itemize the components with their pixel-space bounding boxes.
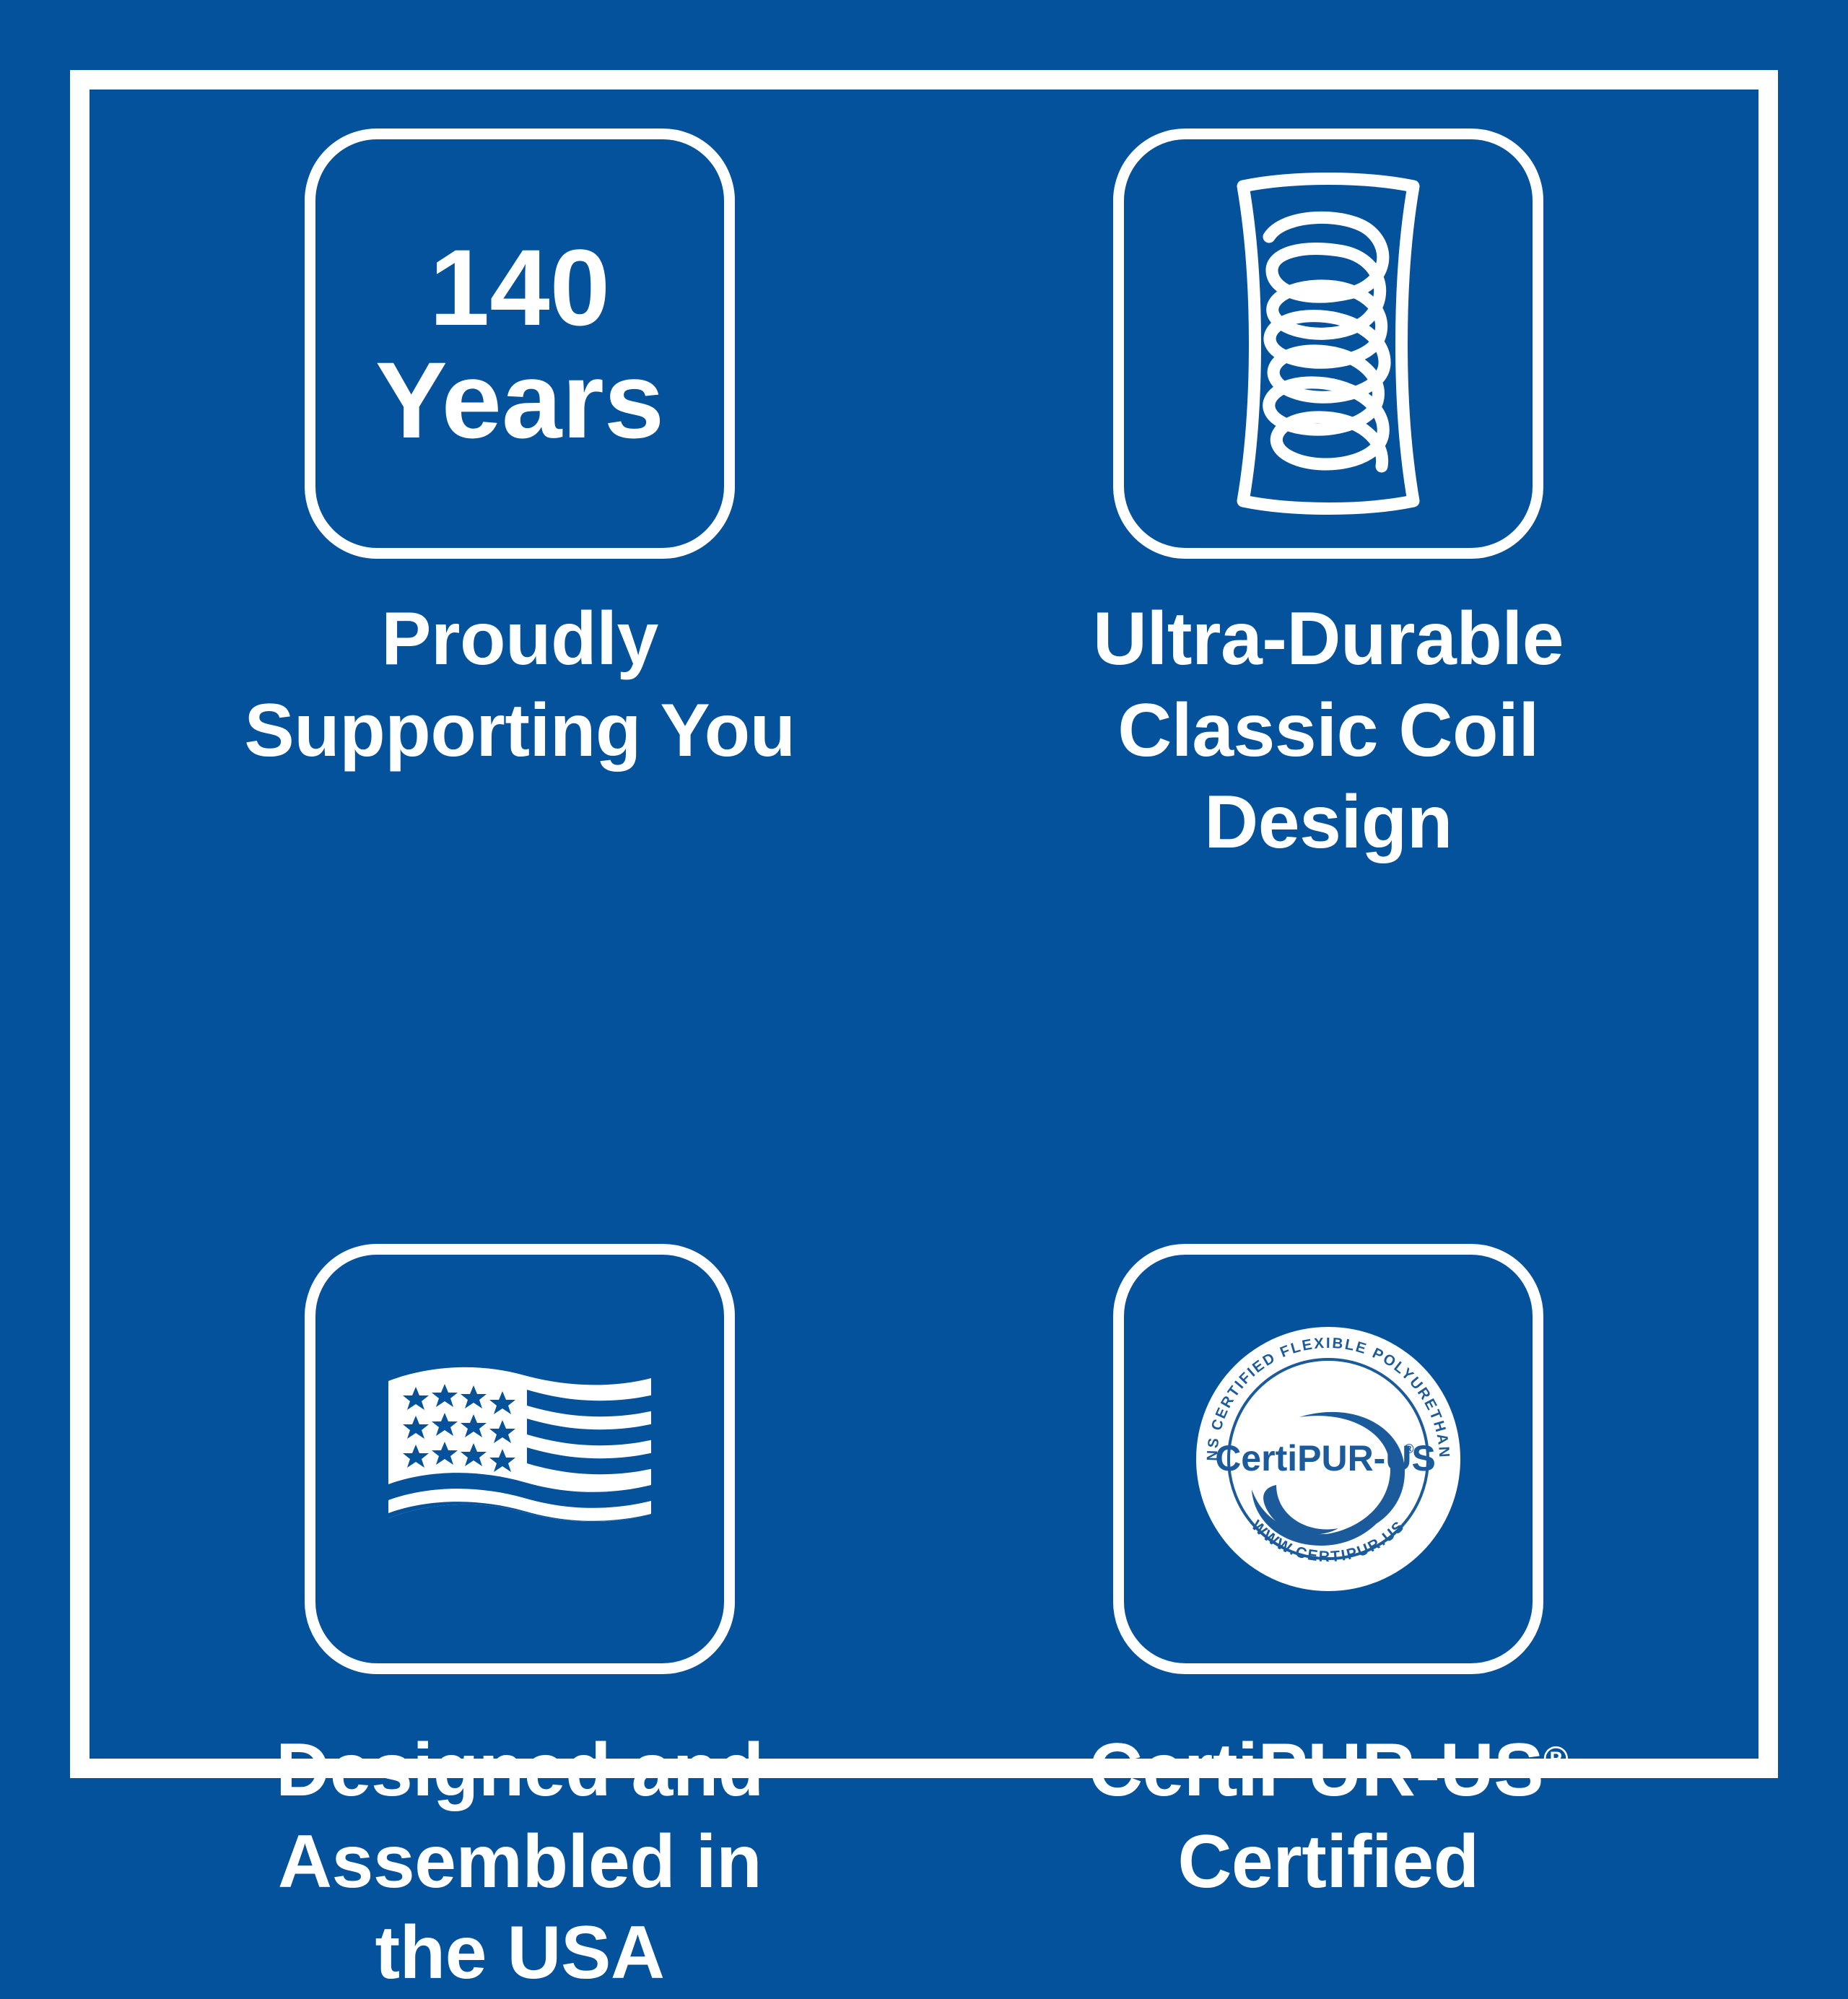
years-number-line: 140 <box>375 231 664 344</box>
feature-label-coil: Ultra-Durable Classic Coil Design <box>1003 593 1653 868</box>
feature-item-coil: Ultra-Durable Classic Coil Design <box>924 116 1732 868</box>
label-line-1: CertiPUR-US® <box>1003 1725 1653 1816</box>
label-line-1-text: CertiPUR-US <box>1089 1728 1543 1812</box>
registered-mark: ® <box>1543 1739 1568 1777</box>
certipur-us-seal-icon: CertiPUR-US ® CONTAINS CERTIFIED FLEXIBL… <box>1184 1315 1473 1603</box>
label-line-2: Classic Coil <box>1003 685 1653 777</box>
feature-grid: 140 Years Proudly Supporting You <box>115 116 1732 1733</box>
feature-label-usa: Designed and Assembled in the USA <box>195 1725 845 1999</box>
label-line-2: Certified <box>1003 1816 1653 1908</box>
label-line-1: Designed and <box>195 1725 845 1816</box>
certipur-seal-wordmark: CertiPUR-US <box>1215 1438 1436 1478</box>
badge-panel: 140 Years Proudly Supporting You <box>0 0 1848 1848</box>
coil-icon-box <box>1113 129 1543 559</box>
label-line-1: Proudly <box>195 593 845 685</box>
feature-label-years: Proudly Supporting You <box>195 593 845 777</box>
certipur-seal-registered-mark: ® <box>1404 1442 1413 1456</box>
usa-icon-box <box>305 1244 735 1674</box>
label-line-3: the USA <box>195 1907 845 1999</box>
label-line-2: Assembled in <box>195 1816 845 1908</box>
years-number-icon: 140 Years <box>375 231 664 456</box>
feature-item-years: 140 Years Proudly Supporting You <box>115 116 924 868</box>
usa-flag-icon <box>383 1365 657 1553</box>
years-word-line: Years <box>375 344 664 456</box>
certipur-icon-box: CertiPUR-US ® CONTAINS CERTIFIED FLEXIBL… <box>1113 1244 1543 1674</box>
mattress-coil-icon <box>1177 170 1480 517</box>
label-line-3: Design <box>1003 777 1653 868</box>
feature-label-certipur: CertiPUR-US® Certified <box>1003 1725 1653 1908</box>
feature-item-usa: Designed and Assembled in the USA <box>115 868 924 1999</box>
years-icon-box: 140 Years <box>305 129 735 559</box>
label-line-1: Ultra-Durable <box>1003 593 1653 685</box>
label-line-2: Supporting You <box>195 685 845 777</box>
feature-item-certipur: CertiPUR-US ® CONTAINS CERTIFIED FLEXIBL… <box>924 868 1732 1999</box>
